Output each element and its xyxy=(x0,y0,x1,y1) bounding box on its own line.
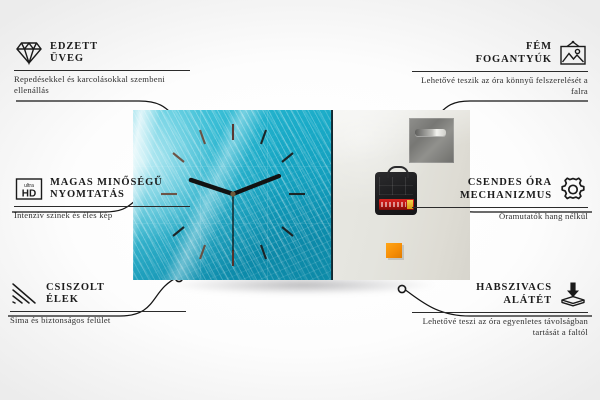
clock-hour-hand xyxy=(191,180,233,194)
callout-title-line2: NYOMTATÁS xyxy=(50,189,163,202)
callout-title-line2: ALÁTÉT xyxy=(476,295,552,308)
callout-description: Sima és biztonságos felület xyxy=(10,315,186,326)
callout-title-line1: FÉM xyxy=(476,41,552,54)
callout-title-line2: ÉLEK xyxy=(46,294,105,307)
callout-title-line1: CSISZOLT xyxy=(46,282,105,295)
polished-edge-icon xyxy=(10,281,40,307)
callout-title-line2: ÜVEG xyxy=(50,53,98,66)
metal-hanger xyxy=(409,118,454,163)
callout-rule xyxy=(412,207,588,208)
callout-rule xyxy=(10,311,186,312)
mechanism-detail xyxy=(379,177,413,195)
callout-description: Repedésekkel és karcolásokkal szembeni e… xyxy=(14,74,190,96)
callout-rule xyxy=(14,70,190,71)
battery-label xyxy=(381,202,406,207)
callout-title-line1: MAGAS MINŐSÉGŰ xyxy=(50,177,163,190)
callout-polished-edges: CSISZOLT ÉLEK Sima és biztonságos felüle… xyxy=(10,281,186,326)
foam-pad-icon xyxy=(558,281,588,308)
diamond-icon xyxy=(14,40,44,66)
clock-mechanism xyxy=(375,172,417,215)
battery xyxy=(379,199,414,210)
callout-rule xyxy=(412,71,588,72)
callout-description: Lehetővé teszi az óra egyenletes távolsá… xyxy=(412,316,588,338)
callout-title-line1: CSENDES ÓRA xyxy=(460,177,552,190)
callout-title-line2: MECHANIZMUS xyxy=(460,190,552,203)
callout-foam-pad: HABSZIVACS ALÁTÉT Lehetővé teszi az óra … xyxy=(412,281,588,338)
callout-tempered-glass: EDZETT ÜVEG Repedésekkel és karcolásokka… xyxy=(14,40,190,96)
infographic-canvas: EDZETT ÜVEG Repedésekkel és karcolásokka… xyxy=(0,0,600,400)
picture-frame-icon xyxy=(558,40,588,67)
clock-minute-hand xyxy=(233,176,279,194)
clock-center-cap xyxy=(230,191,235,196)
ultra-hd-icon: ultra HD xyxy=(14,176,44,202)
callout-high-quality-print: ultra HD MAGAS MINŐSÉGŰ NYOMTATÁS Intenz… xyxy=(14,176,190,221)
callout-description: Intenzív színek és éles kép xyxy=(14,210,190,221)
gear-icon xyxy=(558,176,588,203)
callout-description: Óramutatók hang nélkül xyxy=(412,211,588,222)
callout-title-line1: EDZETT xyxy=(50,41,98,54)
callout-title-line2: FOGANTYÚK xyxy=(476,54,552,67)
callout-rule xyxy=(412,312,588,313)
ultra-hd-big-label: HD xyxy=(22,189,36,200)
callout-title-line1: HABSZIVACS xyxy=(476,282,552,295)
callout-description: Lehetővé teszik az óra könnyű felszerelé… xyxy=(412,75,588,97)
callout-silent-mechanism: CSENDES ÓRA MECHANIZMUS Óramutatók hang … xyxy=(412,176,588,222)
callout-rule xyxy=(14,206,190,207)
callout-metal-handles: FÉM FOGANTYÚK Lehetővé teszik az óra kön… xyxy=(412,40,588,97)
foam-pad xyxy=(386,243,402,258)
